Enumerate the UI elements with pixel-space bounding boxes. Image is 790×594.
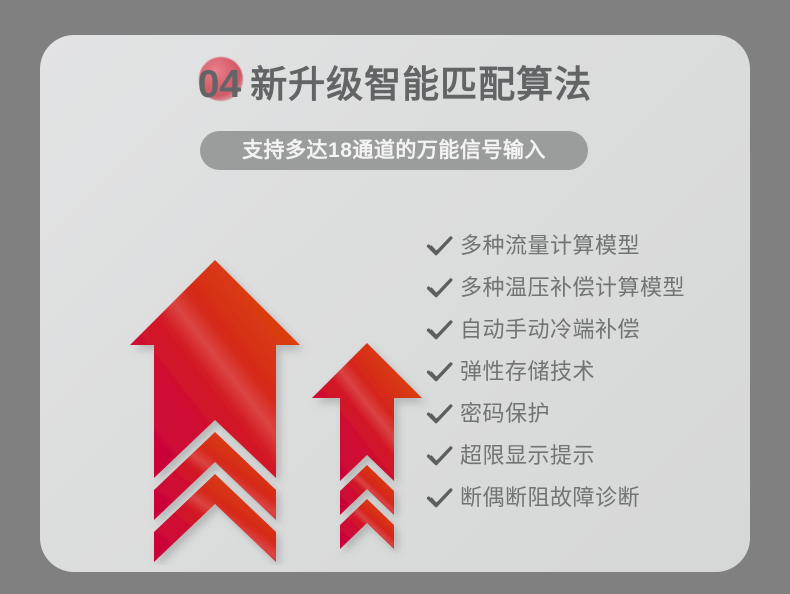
check-icon <box>425 358 455 388</box>
subtitle-label: 支持多达18通道的万能信号输入 <box>242 131 546 170</box>
page-title: 04新升级智能匹配算法 <box>40 63 750 107</box>
rising-arrows-graphic <box>90 220 450 565</box>
list-item-label: 断偶断阻故障诊断 <box>460 483 640 513</box>
list-item: 断偶断阻故障诊断 <box>425 477 745 519</box>
list-item-label: 密码保护 <box>460 399 550 429</box>
subtitle-badge: 支持多达18通道的万能信号输入 <box>200 131 588 170</box>
title-label: 新升级智能匹配算法 <box>250 64 592 105</box>
check-icon <box>425 400 455 430</box>
list-item: 超限显示提示 <box>425 435 745 477</box>
list-item: 多种流量计算模型 <box>425 225 745 267</box>
slide-canvas: 04新升级智能匹配算法 支持多达18通道的万能信号输入 <box>0 0 790 594</box>
list-item: 多种温压补偿计算模型 <box>425 267 745 309</box>
section-number: 04 <box>198 63 241 106</box>
list-item-label: 超限显示提示 <box>460 441 595 471</box>
list-item-label: 多种流量计算模型 <box>460 231 640 261</box>
list-item-label: 自动手动冷端补偿 <box>460 315 640 345</box>
list-item-label: 多种温压补偿计算模型 <box>460 273 685 303</box>
list-item-label: 弹性存储技术 <box>460 357 595 387</box>
small-up-arrow <box>312 343 422 549</box>
list-item: 自动手动冷端补偿 <box>425 309 745 351</box>
check-icon <box>425 442 455 472</box>
list-item: 弹性存储技术 <box>425 351 745 393</box>
feature-list: 多种流量计算模型 多种温压补偿计算模型 自动 <box>425 225 745 519</box>
content-panel: 04新升级智能匹配算法 支持多达18通道的万能信号输入 <box>40 35 750 572</box>
check-icon <box>425 316 455 346</box>
check-icon <box>425 274 455 304</box>
header: 04新升级智能匹配算法 支持多达18通道的万能信号输入 <box>40 35 750 185</box>
arrows-svg <box>90 220 450 565</box>
check-icon <box>425 484 455 514</box>
large-up-arrow <box>130 260 300 562</box>
list-item: 密码保护 <box>425 393 745 435</box>
check-icon <box>425 232 455 262</box>
